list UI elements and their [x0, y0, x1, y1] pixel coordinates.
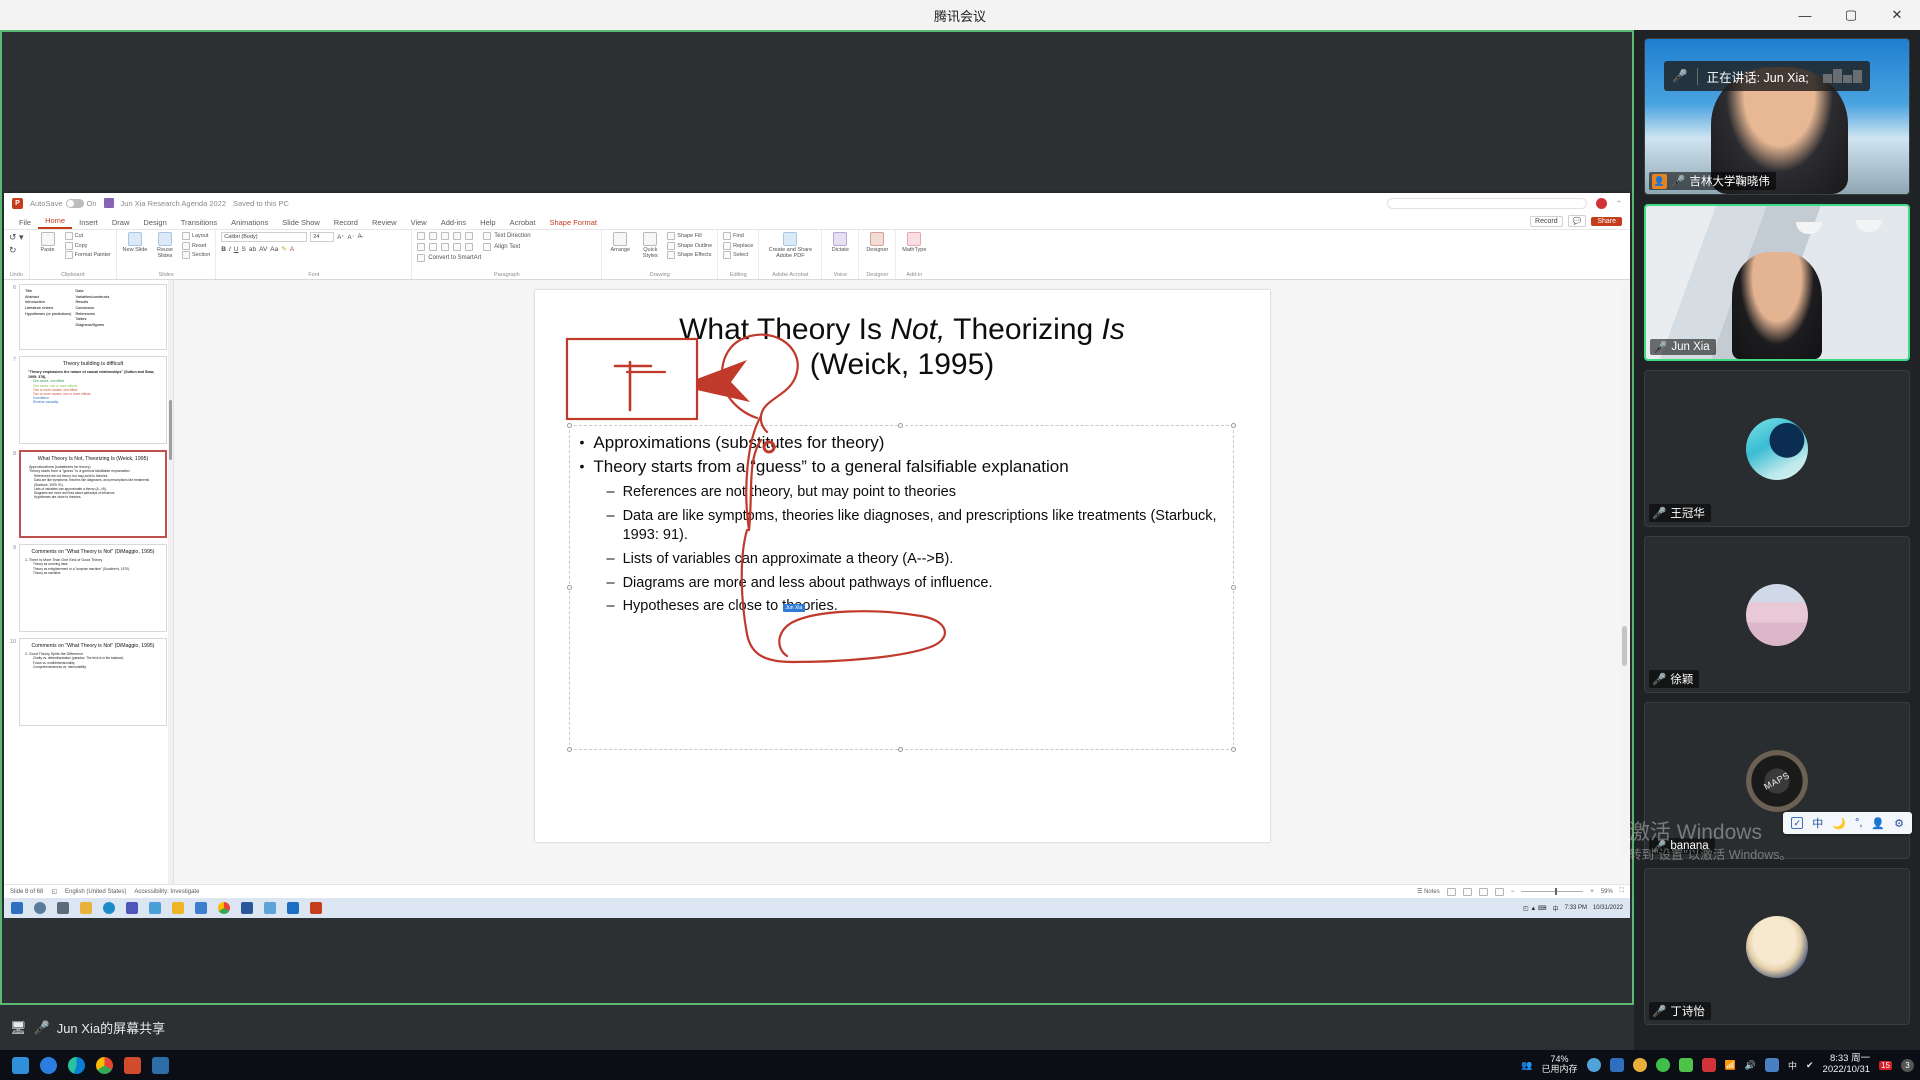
clock[interactable]: 8:33 周一 2022/10/31: [1823, 1054, 1871, 1075]
bullet-marker: –: [607, 574, 615, 594]
ribbon-display-icon[interactable]: ⌃: [1616, 199, 1622, 208]
dictate-label: Dictate: [832, 247, 849, 253]
convert-to-smartart-label: Convert to SmartArt: [428, 255, 481, 261]
mathtype-button[interactable]: MathType: [901, 232, 927, 253]
zoom-slider[interactable]: [1521, 891, 1583, 892]
participant-tile[interactable]: 🎤 正在讲话: Jun Xia; 👤 🎤 吉林大学鞠晓伟: [1644, 38, 1910, 195]
copy-button[interactable]: Copy: [65, 242, 111, 250]
ime-indicator[interactable]: 中: [1553, 904, 1559, 913]
shape-outline-icon: [667, 242, 675, 250]
font-color-button[interactable]: A: [290, 246, 294, 253]
resize-handle-top-left[interactable]: [567, 423, 572, 428]
ppt-ribbon-tabs[interactable]: File Home Insert Draw Design Transitions…: [4, 213, 1630, 230]
screen-share-status-strip: 🖥 🎤 Jun Xia的屏幕共享: [0, 1005, 1634, 1050]
thumbnail-number: 9: [8, 544, 16, 632]
thumbnail-scrollbar[interactable]: [168, 280, 173, 884]
resize-handle-top-right[interactable]: [1231, 423, 1236, 428]
teams-icon[interactable]: [126, 902, 138, 914]
wifi-icon[interactable]: 📶: [1725, 1060, 1736, 1071]
wechat-icon[interactable]: [1656, 1058, 1670, 1072]
tab-add-ins[interactable]: Add-ins: [434, 218, 473, 229]
microphone-muted-icon: 🎤: [1652, 506, 1666, 520]
bullet-text: Theory starts from a “guess” to a genera…: [593, 456, 1068, 478]
autosave-switch[interactable]: [66, 199, 84, 208]
wps-icon[interactable]: [124, 1057, 141, 1074]
comment-icon[interactable]: 💬: [1568, 215, 1587, 227]
tab-transitions[interactable]: Transitions: [174, 218, 224, 229]
shape-outline-label: Shape Outline: [677, 243, 712, 249]
increase-font-size-button[interactable]: A⁺: [337, 234, 344, 241]
cut-label: Cut: [75, 233, 84, 239]
quick-styles-button[interactable]: Quick Styles: [637, 232, 663, 259]
record-button[interactable]: Record: [1530, 216, 1563, 227]
strikethrough-button[interactable]: ab: [249, 246, 256, 253]
group-label-slides: Slides: [122, 272, 210, 279]
meeting-window-title: 腾讯会议: [934, 6, 986, 25]
quick-styles-icon: [643, 232, 657, 246]
bullet-marker: •: [580, 456, 585, 478]
shadow-button[interactable]: S: [242, 246, 246, 253]
tab-acrobat[interactable]: Acrobat: [503, 218, 543, 229]
find-label: Find: [733, 233, 744, 239]
tab-home[interactable]: Home: [38, 216, 72, 229]
section-button[interactable]: Section: [182, 251, 210, 259]
thumbnail-column-right: Data Variables/constructs Results Conclu…: [75, 289, 109, 329]
new-slide-label: New Slide: [123, 247, 148, 253]
group-label-voice: Voice: [827, 272, 853, 279]
align-left-icon[interactable]: [417, 243, 425, 251]
cut-button[interactable]: Cut: [65, 232, 111, 240]
slide-subbullet: – Diagrams are more and less about pathw…: [607, 574, 1225, 594]
format-painter-button[interactable]: Format Painter: [65, 251, 111, 259]
bullet-text: Data are like symptoms, theories like di…: [623, 507, 1225, 546]
mathtype-icon: [907, 232, 921, 246]
ppt-main-area: 6 Title Abstract Introduction Literature…: [4, 280, 1630, 884]
ribbon-group-editing: Find Replace Select Editing: [718, 230, 759, 279]
edge-icon[interactable]: [68, 1057, 85, 1074]
slide-title-italic: Not,: [890, 313, 945, 346]
moon-icon[interactable]: 🌙: [1832, 817, 1846, 830]
maximize-button[interactable]: ▢: [1828, 0, 1874, 30]
dictate-button[interactable]: Dictate: [827, 232, 853, 253]
tab-draw[interactable]: Draw: [105, 218, 137, 229]
thumbnail-subbullet: Hypotheses are close to theories.: [26, 495, 160, 499]
ime-logo-icon[interactable]: ✓: [1791, 817, 1803, 829]
photos-icon[interactable]: [152, 1057, 169, 1074]
copy-icon: [65, 242, 73, 250]
people-icon[interactable]: 👥: [1521, 1060, 1532, 1071]
thumbnail-slide-selected[interactable]: What Theory Is Not, Theorizing Is (Weick…: [19, 450, 167, 538]
thumbnail-item[interactable]: 8 What Theory Is Not, Theorizing Is (Wei…: [8, 450, 167, 538]
slide-canvas[interactable]: What Theory Is Not, Theorizing Is (Weick…: [535, 290, 1270, 842]
slide-title-part: Theorizing: [945, 313, 1101, 346]
bold-button[interactable]: B: [221, 246, 226, 253]
replace-label: Replace: [733, 243, 753, 249]
notes-label: Notes: [1424, 889, 1440, 895]
memory-label: 已用内存: [1542, 1065, 1578, 1075]
tab-animations[interactable]: Animations: [224, 218, 275, 229]
reset-label: Reset: [192, 243, 206, 249]
photos-icon[interactable]: [264, 902, 276, 914]
powerpoint-window[interactable]: P AutoSave On Jun Xia Research Agenda 20…: [4, 193, 1630, 898]
ribbon-right-actions: Record 💬 Share: [1530, 215, 1622, 229]
slide-bullet-list[interactable]: • Approximations (substitutes for theory…: [570, 426, 1233, 617]
thumbnail-subbullet: Data are like symptoms, theories like di…: [26, 478, 160, 486]
start-icon[interactable]: [11, 902, 23, 914]
microphone-muted-icon: 🎤: [1671, 174, 1685, 188]
participant-tile-active[interactable]: 🎤 Jun Xia: [1644, 204, 1910, 361]
slideshow-button[interactable]: [1495, 888, 1504, 896]
autosave-state: On: [87, 199, 97, 208]
group-label-font: Font: [221, 272, 406, 279]
notification-badge[interactable]: 3: [1901, 1059, 1914, 1072]
notes-button[interactable]: ☰ Notes: [1417, 888, 1440, 895]
checkmark-icon[interactable]: ✔: [1806, 1060, 1814, 1071]
font-name-box[interactable]: Calibri (Body): [221, 232, 307, 242]
slide-title-line2: (Weick, 1995): [595, 347, 1210, 382]
ribbon-group-voice: Dictate Voice: [822, 230, 859, 279]
taskbar-app-buttons[interactable]: [12, 1057, 169, 1074]
status-bar-right: ☰ Notes − + 59% ⛶: [1417, 888, 1624, 896]
participant-namebar: 🎤 丁诗怡: [1649, 1002, 1711, 1020]
justify-icon[interactable]: [453, 243, 461, 251]
volume-icon[interactable]: 🔊: [1745, 1060, 1756, 1071]
reset-icon: [182, 242, 190, 250]
reset-button[interactable]: Reset: [182, 242, 210, 250]
save-icon[interactable]: [104, 198, 114, 208]
slide-vertical-scrollbar[interactable]: [1621, 284, 1628, 854]
decrease-font-size-button[interactable]: A⁻: [347, 234, 354, 241]
zoom-level[interactable]: 59%: [1601, 889, 1613, 895]
replace-button[interactable]: Replace: [723, 242, 753, 250]
bullet-text: References are not theory, but may point…: [623, 483, 956, 503]
thumbnail-item[interactable]: 7 Theory building is difficult "Theory e…: [8, 356, 167, 444]
select-icon: [723, 251, 731, 259]
thumbnail-line: Hypotheses (or predictions): [25, 312, 71, 318]
tray-icons[interactable]: ◰ ▲ ⌨: [1523, 905, 1547, 912]
ppt-status-bar: Slide 8 of 68 ◱ English (United States) …: [4, 884, 1630, 898]
tab-slide-show[interactable]: Slide Show: [275, 218, 327, 229]
thumbnail-bullet: "Theory emphasizes the nature of causal …: [25, 370, 161, 380]
ime-mode-indicator[interactable]: 中: [1812, 815, 1823, 831]
slide-subbullet: – Lists of variables can approximate a t…: [607, 550, 1225, 570]
bullet-text: Approximations (substitutes for theory): [593, 432, 884, 454]
zoom-in-button[interactable]: +: [1590, 889, 1594, 895]
ribbon-group-undo: ↺ ▾ ↻ Undo: [4, 230, 30, 279]
paste-icon: [41, 232, 55, 246]
chrome-icon[interactable]: [96, 1057, 113, 1074]
participant-namebar: 🎤 王冠华: [1649, 504, 1711, 522]
paste-button[interactable]: Paste: [35, 232, 61, 253]
slide-title-part: What Theory Is: [679, 313, 890, 346]
bullet-text: Diagrams are more and less about pathway…: [623, 574, 993, 594]
create-and-share-pdf-button[interactable]: Create and Share Adobe PDF: [764, 232, 816, 259]
section-label: Section: [192, 252, 210, 258]
tab-review[interactable]: Review: [365, 218, 404, 229]
mountain-icon[interactable]: [1610, 1058, 1624, 1072]
autosave-toggle[interactable]: AutoSave On: [30, 199, 97, 208]
font-size-box[interactable]: 24: [310, 232, 334, 242]
document-filename[interactable]: Jun Xia Research Agenda 2022: [121, 199, 227, 208]
group-label-designer: Designer: [864, 272, 890, 279]
align-text-icon[interactable]: [483, 243, 491, 251]
minimize-button[interactable]: —: [1782, 0, 1828, 30]
group-label-editing: Editing: [723, 272, 753, 279]
thumbnail-title: Comments on "What Theory is Not" (DiMagg…: [25, 643, 161, 650]
resize-handle-bottom-center[interactable]: [898, 747, 903, 752]
decrease-indent-icon[interactable]: [441, 232, 449, 240]
new-slide-icon: [128, 232, 142, 246]
taskview-icon[interactable]: [57, 902, 69, 914]
text-highlight-color-button[interactable]: ✎: [281, 245, 286, 253]
shape-fill-button[interactable]: Shape Fill: [667, 232, 712, 240]
shared-machine-taskbar[interactable]: ◰ ▲ ⌨ 中 7:33 PM 10/31/2022: [4, 898, 1630, 918]
powerpoint-icon[interactable]: [310, 902, 322, 914]
thumbnail-slide[interactable]: Title Abstract Introduction Literature r…: [19, 284, 167, 350]
participant-panel[interactable]: 🎤 正在讲话: Jun Xia; 👤 🎤 吉林大学鞠晓伟 🎤 Jun Xia: [1634, 30, 1920, 1050]
bullet-marker: –: [607, 550, 615, 570]
slide-title-italic: Is: [1102, 313, 1125, 346]
ime-floating-toolbar[interactable]: ✓ 中 🌙 °, 👤 ⚙: [1783, 812, 1912, 834]
ribbon-group-drawing: Arrange Quick Styles Shape Fill Sh: [602, 230, 718, 279]
weather-icon[interactable]: [1587, 1058, 1601, 1072]
qat-right-cluster: ⌃: [1387, 198, 1622, 209]
tab-view[interactable]: View: [404, 218, 434, 229]
ppt-quick-access-toolbar[interactable]: P AutoSave On Jun Xia Research Agenda 20…: [4, 193, 1630, 213]
mathtype-label: MathType: [902, 247, 926, 253]
active-speaker-banner: 🎤 正在讲话: Jun Xia;: [1664, 61, 1870, 91]
group-label-paragraph: Paragraph: [417, 272, 596, 279]
tab-insert[interactable]: Insert: [72, 218, 105, 229]
designer-label: Designer: [866, 247, 888, 253]
search-icon[interactable]: [34, 902, 46, 914]
tencent-meeting-icon[interactable]: [40, 1057, 57, 1074]
resize-handle-bottom-right[interactable]: [1231, 747, 1236, 752]
ribbon-group-font: Calibri (Body) 24 A⁺ A⁻ A̶ B I U S ab AV…: [216, 230, 412, 279]
video-person: [1732, 252, 1821, 359]
character-spacing-button[interactable]: AV: [259, 246, 267, 253]
thumbnail-item[interactable]: 6 Title Abstract Introduction Literature…: [8, 284, 167, 350]
slide-subbullet: – Data are like symptoms, theories like …: [607, 507, 1225, 546]
underline-button[interactable]: U: [234, 246, 239, 253]
comma-icon[interactable]: °,: [1855, 817, 1862, 829]
shared-screen-stage[interactable]: P AutoSave On Jun Xia Research Agenda 20…: [0, 30, 1634, 1050]
group-label-add-in: Add-in: [901, 272, 927, 279]
thumbnail-subbullet: Theory as narrative.: [25, 571, 161, 575]
find-button[interactable]: Find: [723, 232, 753, 240]
convert-to-smartart-icon[interactable]: [417, 254, 425, 262]
shared-machine-tray: ◰ ▲ ⌨ 中 7:33 PM 10/31/2022: [1523, 904, 1623, 913]
word-icon[interactable]: [241, 902, 253, 914]
section-icon: [182, 251, 190, 259]
thumbnail-line: Diagrams/figures: [75, 323, 109, 329]
shape-outline-button[interactable]: Shape Outline: [667, 242, 712, 250]
paste-label: Paste: [41, 247, 55, 253]
slide-title[interactable]: What Theory Is Not, Theorizing Is (Weick…: [535, 290, 1270, 383]
numbering-icon[interactable]: [429, 232, 437, 240]
text-direction-label: Text Direction: [494, 233, 530, 239]
microphone-icon[interactable]: 🎤: [34, 1020, 50, 1036]
replace-icon: [723, 242, 731, 250]
accessibility-icon[interactable]: ◱: [51, 888, 57, 895]
explorer-icon[interactable]: [172, 902, 184, 914]
update-icon[interactable]: [1765, 1058, 1779, 1072]
participant-name: 王冠华: [1670, 505, 1705, 521]
audio-waveform-icon: [1823, 69, 1862, 83]
slide-body-placeholder[interactable]: • Approximations (substitutes for theory…: [569, 425, 1234, 750]
undo-button[interactable]: ↺ ▾: [9, 232, 24, 243]
clock-time[interactable]: 7:33 PM: [1565, 905, 1587, 911]
security-alert-icon[interactable]: [1702, 1058, 1716, 1072]
participant-tile[interactable]: 🎤 徐颖: [1644, 536, 1910, 693]
language-indicator[interactable]: English (United States): [65, 889, 126, 895]
thumbnail-subbullet: Comprehensiveness vs. memorability.: [25, 665, 161, 669]
slide-subbullet: – Hypotheses are close to theories.: [607, 597, 1225, 617]
participant-tile[interactable]: 🎤 王冠华: [1644, 370, 1910, 527]
windows-taskbar[interactable]: 👥 74% 已用内存 📶 🔊 中 ✔ 8:33 周一 2022/10/31 15…: [0, 1050, 1920, 1080]
video-feed: [1646, 206, 1908, 359]
bullet-marker: –: [607, 483, 615, 503]
bullets-icon[interactable]: [417, 232, 425, 240]
ppt-ribbon[interactable]: ↺ ▾ ↻ Undo Paste Cut: [4, 230, 1630, 280]
close-button[interactable]: ✕: [1874, 0, 1920, 30]
designer-icon: [870, 232, 884, 246]
italic-button[interactable]: I: [229, 246, 231, 253]
group-label-undo: Undo: [9, 272, 24, 279]
thumbnail-title: Comments on "What Theory is Not" (DiMagg…: [25, 549, 161, 556]
reading-view-button[interactable]: [1479, 888, 1488, 896]
windows-activation-watermark: 激活 Windows 转到"设置"以激活 Windows。: [1629, 819, 1792, 864]
divider: [1697, 68, 1698, 85]
gear-icon[interactable]: ⚙: [1894, 817, 1904, 830]
system-tray[interactable]: 👥 74% 已用内存 📶 🔊 中 ✔ 8:33 周一 2022/10/31 15…: [1521, 1054, 1914, 1075]
plus-icon[interactable]: [1633, 1058, 1647, 1072]
shape-effects-button[interactable]: Shape Effects: [667, 251, 712, 259]
thumbnail-slide[interactable]: Comments on "What Theory is Not" (DiMagg…: [19, 544, 167, 632]
slide-counter: Slide 8 of 68: [10, 889, 43, 895]
share-button[interactable]: Share: [1591, 217, 1622, 226]
avatar[interactable]: [1596, 198, 1607, 209]
thumbnail-slide[interactable]: Comments on "What Theory is Not" (DiMagg…: [19, 638, 167, 726]
calculator-icon[interactable]: [149, 902, 161, 914]
microphone-muted-icon: 🎤: [1652, 1004, 1666, 1018]
edge-icon[interactable]: [103, 902, 115, 914]
tab-shape-format[interactable]: Shape Format: [542, 218, 604, 229]
shield-icon[interactable]: [1679, 1058, 1693, 1072]
search-box[interactable]: [1387, 198, 1587, 209]
resize-handle-top-center[interactable]: [898, 423, 903, 428]
shape-effects-label: Shape Effects: [677, 252, 711, 258]
designer-button[interactable]: Designer: [864, 232, 890, 253]
tab-design[interactable]: Design: [136, 218, 173, 229]
new-slide-button[interactable]: New Slide: [122, 232, 148, 253]
avatar: MAPS: [1746, 750, 1808, 812]
windows-start-icon[interactable]: [12, 1057, 29, 1074]
columns-icon[interactable]: [465, 243, 473, 251]
store-icon[interactable]: [195, 902, 207, 914]
shape-effects-icon: [667, 251, 675, 259]
bullet-marker: –: [607, 597, 615, 617]
format-painter-label: Format Painter: [75, 252, 111, 258]
slide-canvas-area[interactable]: What Theory Is Not, Theorizing Is (Weick…: [174, 280, 1630, 884]
ribbon-group-paragraph: Text Direction Align Text: [412, 230, 602, 279]
ribbon-group-clipboard: Paste Cut Copy Format Pain: [30, 230, 117, 279]
redo-button[interactable]: ↻: [9, 245, 17, 256]
zoom-out-button[interactable]: −: [1511, 889, 1515, 895]
align-center-icon[interactable]: [429, 243, 437, 251]
slide-sorter-button[interactable]: [1463, 888, 1472, 896]
tab-help[interactable]: Help: [473, 218, 502, 229]
memory-indicator[interactable]: 74% 已用内存: [1542, 1055, 1578, 1075]
slide-thumbnail-pane[interactable]: 6 Title Abstract Introduction Literature…: [4, 280, 174, 884]
line-spacing-icon[interactable]: [465, 232, 473, 240]
resize-handle-middle-left[interactable]: [567, 585, 572, 590]
ime-indicator[interactable]: 中: [1788, 1059, 1797, 1072]
create-and-share-pdf-label: Create and Share Adobe PDF: [764, 247, 816, 259]
resize-handle-middle-right[interactable]: [1231, 585, 1236, 590]
arrange-button[interactable]: Arrange: [607, 232, 633, 253]
reuse-slides-button[interactable]: Reuse Slides: [152, 232, 178, 259]
avatar: [1746, 418, 1808, 480]
scissors-icon: [65, 232, 73, 240]
arrange-icon: [613, 232, 627, 246]
document-saved-location: Saved to this PC: [233, 199, 289, 208]
chrome-icon[interactable]: [218, 902, 230, 914]
participant-tile[interactable]: 🎤 丁诗怡: [1644, 868, 1910, 1025]
thumbnail-item[interactable]: 10 Comments on "What Theory is Not" (DiM…: [8, 638, 167, 726]
clear-formatting-icon[interactable]: A̶: [358, 234, 362, 240]
tab-record[interactable]: Record: [327, 218, 365, 229]
adobe-pdf-icon: [783, 232, 797, 246]
bullet-text: Lists of variables can approximate a the…: [623, 550, 954, 570]
thumbnail-title: What Theory Is Not, Theorizing Is (Weick…: [26, 456, 160, 463]
thumbnail-slide[interactable]: Theory building is difficult "Theory emp…: [19, 356, 167, 444]
layout-label: Layout: [192, 233, 209, 239]
resize-handle-bottom-left[interactable]: [567, 747, 572, 752]
screen-share-label: Jun Xia的屏幕共享: [57, 1018, 165, 1037]
thumbnail-title: Theory building is difficult: [25, 361, 161, 368]
text-direction-icon[interactable]: [483, 232, 491, 240]
normal-view-button[interactable]: [1447, 888, 1456, 896]
ribbon-group-adobe-acrobat: Create and Share Adobe PDF Adobe Acrobat: [759, 230, 822, 279]
shape-fill-label: Shape Fill: [677, 233, 701, 239]
group-label-clipboard: Clipboard: [35, 272, 111, 279]
accessibility-status[interactable]: Accessibility: Investigate: [134, 889, 199, 895]
active-speaker-text: 正在讲话: Jun Xia;: [1707, 67, 1809, 86]
user-icon[interactable]: 👤: [1871, 817, 1885, 830]
layout-button[interactable]: Layout: [182, 232, 210, 240]
slide-subbullet: – References are not theory, but may poi…: [607, 483, 1225, 503]
reuse-slides-label: Reuse Slides: [152, 247, 178, 259]
weather-icon[interactable]: [80, 902, 92, 914]
watermark-line1: 激活 Windows: [1629, 819, 1792, 847]
clock-date[interactable]: 10/31/2022: [1593, 905, 1623, 911]
status-badge[interactable]: 15: [1879, 1061, 1892, 1070]
outlook-icon[interactable]: [287, 902, 299, 914]
change-case-button[interactable]: Aa: [270, 246, 278, 253]
ribbon-group-designer: Designer Designer: [859, 230, 896, 279]
participant-name: 丁诗怡: [1670, 1003, 1705, 1019]
align-right-icon[interactable]: [441, 243, 449, 251]
thumbnail-item[interactable]: 9 Comments on "What Theory is Not" (DiMa…: [8, 544, 167, 632]
meeting-window-titlebar: 腾讯会议 — ▢ ✕: [0, 0, 1920, 30]
bullet-marker: –: [607, 507, 615, 546]
group-label-drawing: Drawing: [607, 272, 712, 279]
increase-indent-icon[interactable]: [453, 232, 461, 240]
select-button[interactable]: Select: [723, 251, 753, 259]
tab-file[interactable]: File: [12, 218, 38, 229]
fit-to-window-icon[interactable]: ⛶: [1620, 888, 1624, 895]
